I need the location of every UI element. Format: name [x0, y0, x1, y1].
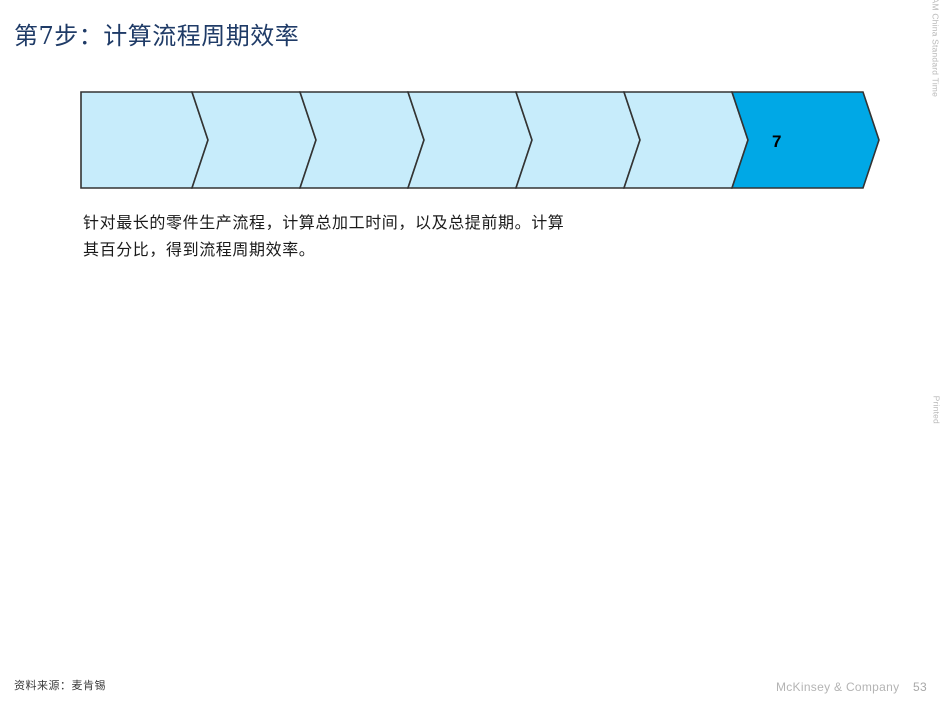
chevron-step-5[interactable] [516, 92, 640, 188]
slide-canvas: 第7步：计算流程周期效率 7 针对最长的零件生产流程，计算总加工时间，以及总提前… [0, 0, 941, 706]
chevron-step-4[interactable] [408, 92, 532, 188]
chevron-step-7-active[interactable] [732, 92, 879, 188]
body-line-1: 针对最长的零件生产流程，计算总加工时间，以及总提前期。计算 [83, 209, 763, 236]
last-modified-stamp: Last Modified 12/20/2018 9:16 AM China S… [931, 0, 941, 97]
printed-stamp: Printed [931, 396, 941, 424]
chevron-step-2[interactable] [192, 92, 316, 188]
source-note: 资料来源：麦肯锡 [14, 677, 106, 693]
chevron-step-1[interactable] [81, 92, 208, 188]
chevron-step-6[interactable] [624, 92, 748, 188]
chevron-step-7-label: 7 [772, 132, 781, 151]
footer-brand: McKinsey & Company 53 [776, 680, 927, 694]
chevron-step-3[interactable] [300, 92, 424, 188]
brand-name: McKinsey & Company [776, 680, 899, 694]
body-line-2: 其百分比，得到流程周期效率。 [83, 236, 763, 263]
page-number: 53 [913, 680, 927, 694]
body-paragraph: 针对最长的零件生产流程，计算总加工时间，以及总提前期。计算 其百分比，得到流程周… [83, 209, 763, 263]
